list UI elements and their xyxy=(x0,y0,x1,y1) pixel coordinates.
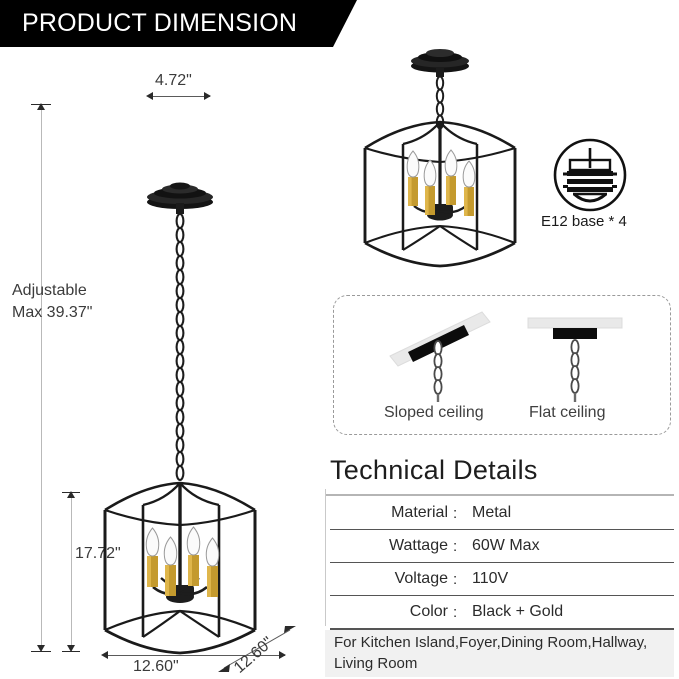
row-colon: : xyxy=(453,538,465,555)
table-row: Voltage : 110V xyxy=(330,563,674,596)
sloped-ceiling-icon xyxy=(378,308,502,404)
row-key: Material xyxy=(330,504,453,522)
page-title: PRODUCT DIMENSION xyxy=(22,9,297,38)
row-colon: : xyxy=(453,604,465,621)
flat-ceiling-label: Flat ceiling xyxy=(529,404,605,422)
pendant-light-main-drawing xyxy=(95,85,295,655)
technical-details-table: Material : Metal Wattage : 60W Max Volta… xyxy=(330,497,674,630)
row-colon: : xyxy=(453,505,465,522)
flat-ceiling-icon xyxy=(520,310,630,406)
technical-details-title: Technical Details xyxy=(330,455,538,486)
e12-screw-base-icon xyxy=(553,138,627,212)
shade-width-arrow-left xyxy=(101,651,108,659)
e12-base-label: E12 base * 4 xyxy=(541,213,627,230)
row-colon: : xyxy=(453,571,465,588)
technical-details-footer-text: For Kitchen Island,Foyer,Dining Room,Hal… xyxy=(334,632,674,674)
row-value: Metal xyxy=(465,504,511,522)
row-value: 60W Max xyxy=(465,537,540,555)
adjustable-label-line1: Adjustable xyxy=(12,282,87,300)
overall-height-tick-top xyxy=(31,104,51,105)
pendant-light-product-illustration xyxy=(345,38,535,288)
shade-width-label: 12.60" xyxy=(133,658,179,676)
row-value: 110V xyxy=(465,570,508,588)
product-dimension-infographic: PRODUCT DIMENSION Adjustable Max 39.37" … xyxy=(0,0,679,679)
shade-height-tick-bottom xyxy=(62,651,80,652)
row-key: Color xyxy=(330,603,453,621)
table-row: Color : Black + Gold xyxy=(330,596,674,630)
row-value: Black + Gold xyxy=(465,603,563,621)
overall-height-dimension-line xyxy=(41,108,42,652)
overall-height-tick-bottom xyxy=(31,651,51,652)
technical-details-rule xyxy=(325,494,674,496)
technical-details-left-border xyxy=(325,489,326,626)
shade-height-tick-top xyxy=(62,492,80,493)
shade-height-dimension-line xyxy=(71,496,72,652)
sloped-ceiling-label: Sloped ceiling xyxy=(384,404,484,422)
row-key: Wattage xyxy=(330,537,453,555)
row-key: Voltage xyxy=(330,570,453,588)
table-row: Material : Metal xyxy=(330,497,674,530)
table-row: Wattage : 60W Max xyxy=(330,530,674,563)
adjustable-label-line2: Max 39.37" xyxy=(12,304,92,322)
